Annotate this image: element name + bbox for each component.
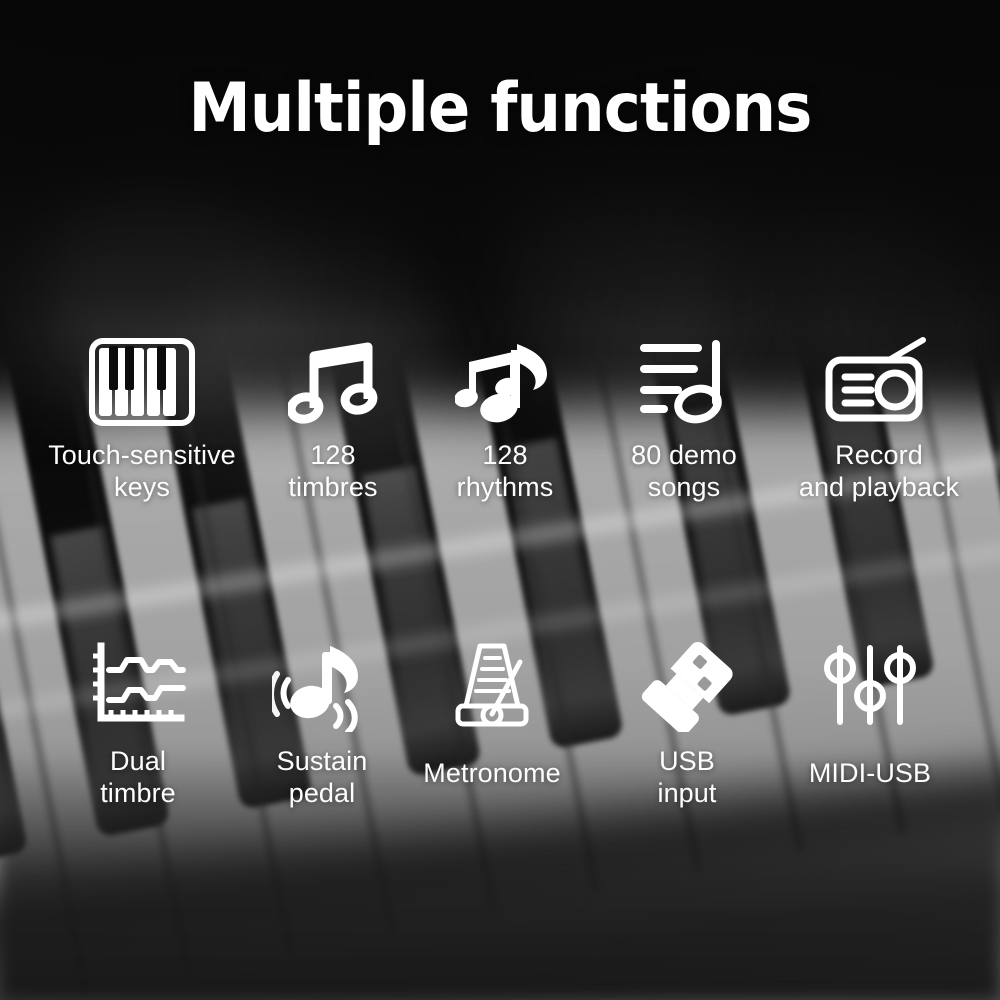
feature-label: Record and playback bbox=[799, 440, 959, 504]
page-title: Multiple functions bbox=[40, 72, 960, 147]
sliders-icon bbox=[822, 640, 918, 732]
feature-sustain-pedal[interactable]: Sustain pedal bbox=[242, 640, 402, 810]
feature-80-demo-songs[interactable]: 80 demo songs bbox=[604, 336, 764, 504]
metronome-icon bbox=[448, 640, 536, 732]
feature-128-rhythms[interactable]: 128 rhythms bbox=[420, 336, 590, 504]
feature-metronome[interactable]: Metronome bbox=[402, 640, 582, 810]
beamed-eighth-notes-icon bbox=[288, 336, 378, 428]
waveform-chart-icon bbox=[89, 640, 187, 732]
playlist-note-icon bbox=[636, 336, 732, 428]
feature-label: MIDI-USB bbox=[809, 758, 931, 790]
feature-label: 128 timbres bbox=[288, 440, 377, 504]
piano-keyboard-icon bbox=[88, 336, 196, 428]
feature-touch-sensitive-keys[interactable]: Touch-sensitive keys bbox=[22, 336, 262, 504]
feature-record-and-playback[interactable]: Record and playback bbox=[774, 336, 984, 504]
feature-128-timbres[interactable]: 128 timbres bbox=[258, 336, 408, 504]
feature-row-1: Touch-sensitive keys 128 timb bbox=[0, 336, 1000, 504]
usb-plug-icon bbox=[641, 640, 733, 732]
vibrating-note-icon bbox=[272, 640, 372, 732]
feature-midi-usb[interactable]: MIDI-USB bbox=[780, 640, 960, 810]
feature-label: 128 rhythms bbox=[457, 440, 554, 504]
feature-label: Dual timbre bbox=[100, 746, 176, 810]
feature-label: Touch-sensitive keys bbox=[48, 440, 236, 504]
feature-label: 80 demo songs bbox=[631, 440, 737, 504]
feature-label: Metronome bbox=[423, 758, 560, 790]
feature-label: USB input bbox=[657, 746, 716, 810]
radio-icon bbox=[823, 336, 935, 428]
feature-dual-timbre[interactable]: Dual timbre bbox=[58, 640, 218, 810]
feature-row-2: Dual timbre bbox=[0, 640, 1000, 810]
music-notes-icon bbox=[455, 336, 555, 428]
feature-label: Sustain pedal bbox=[277, 746, 368, 810]
promo-banner: Multiple functions bbox=[0, 0, 1000, 1000]
feature-usb-input[interactable]: USB input bbox=[622, 640, 752, 810]
